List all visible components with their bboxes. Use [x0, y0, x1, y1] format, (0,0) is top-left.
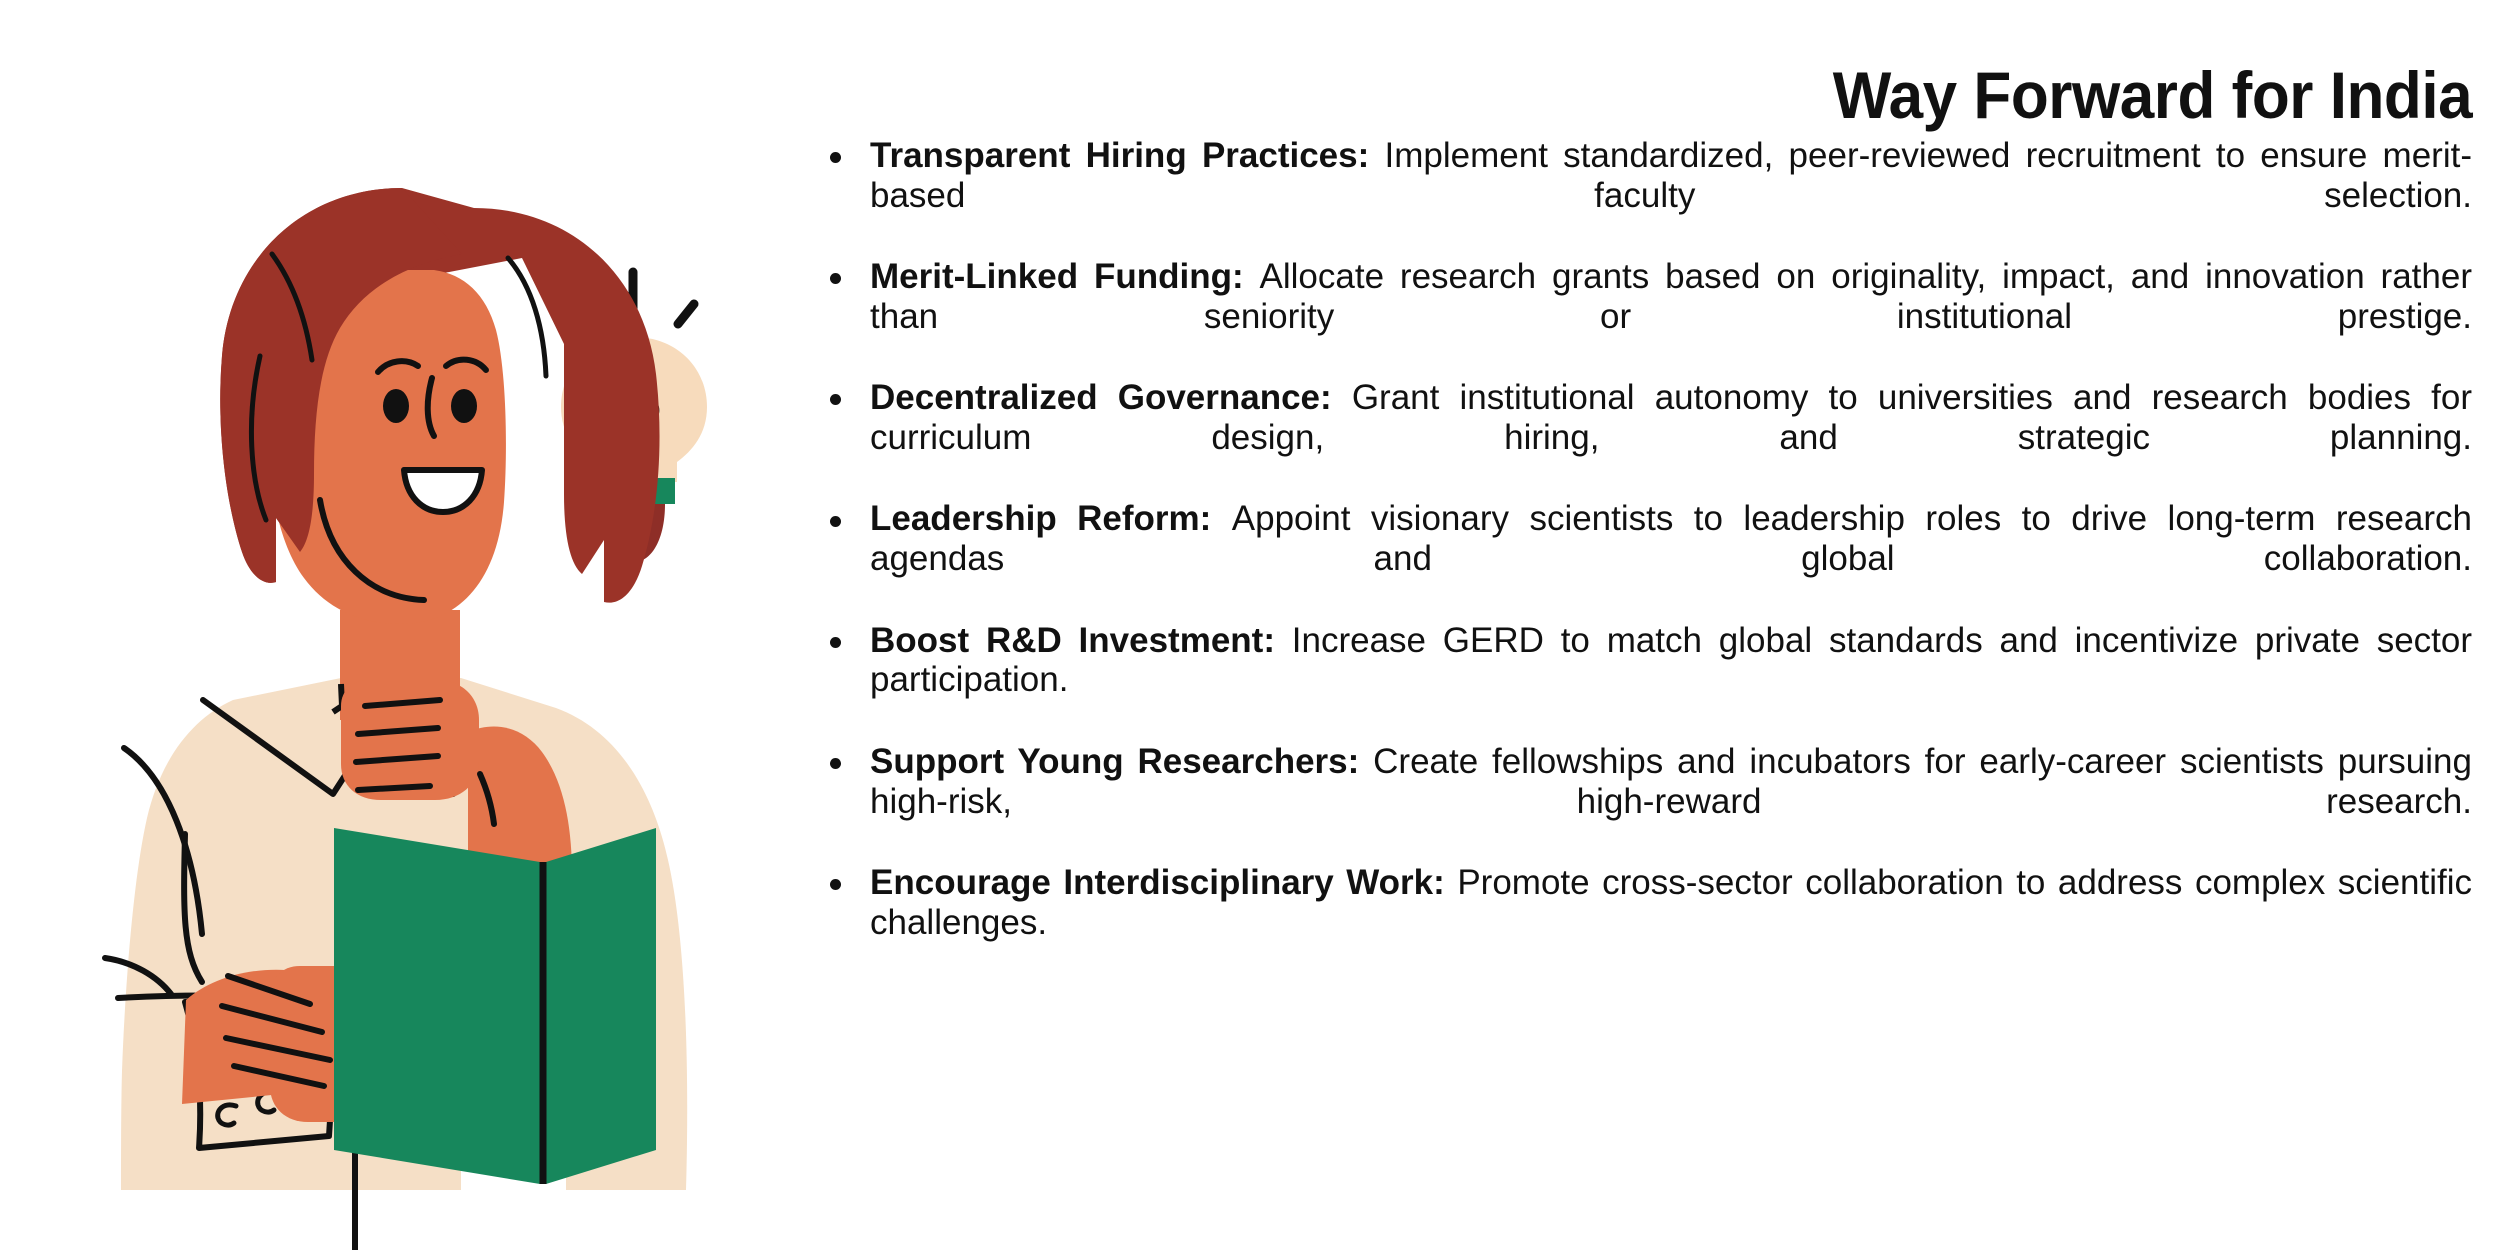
- list-item-term: Support Young Researchers:: [870, 742, 1373, 781]
- list-item: Leadership Reform: Appoint visionary sci…: [800, 499, 2500, 618]
- list-item-term: Decentralized Governance:: [870, 378, 1352, 417]
- eye-left: [383, 389, 409, 423]
- bullet-marker-icon: [830, 637, 841, 648]
- page-title: Way Forward for India: [1833, 60, 2472, 131]
- open-book: [334, 828, 656, 1184]
- list-item: Transparent Hiring Practices: Implement …: [800, 136, 2500, 255]
- book-page-right: [546, 828, 656, 1184]
- eye-right: [451, 389, 477, 423]
- illustration-woman-reading: [0, 0, 800, 1250]
- bullet-marker-icon: [830, 152, 841, 163]
- book-page-left: [334, 828, 540, 1184]
- list-item: Merit-Linked Funding: Allocate research …: [800, 257, 2500, 376]
- list-item-term: Leadership Reform:: [870, 499, 1232, 538]
- bullet-marker-icon: [830, 516, 841, 527]
- list-item: Decentralized Governance: Grant institut…: [800, 378, 2500, 497]
- bullet-marker-icon: [830, 879, 841, 890]
- hand-right: [341, 680, 479, 800]
- list-item: Boost R&D Investment: Increase GERD to m…: [800, 621, 2500, 740]
- list-item: Support Young Researchers: Create fellow…: [800, 742, 2500, 861]
- bullet-marker-icon: [830, 273, 841, 284]
- slide-canvas: Way Forward for India Transparent Hiring…: [0, 0, 2500, 1250]
- list-item-term: Transparent Hiring Practices:: [870, 136, 1385, 175]
- content-column: Way Forward for India Transparent Hiring…: [800, 0, 2500, 1250]
- recommendations-list: Transparent Hiring Practices: Implement …: [800, 136, 2500, 984]
- bullet-marker-icon: [830, 758, 841, 769]
- list-item: Encourage Interdisciplinary Work: Promot…: [800, 863, 2500, 982]
- list-item-term: Boost R&D Investment:: [870, 621, 1292, 660]
- list-item-term: Merit-Linked Funding:: [870, 257, 1260, 296]
- bullet-marker-icon: [830, 394, 841, 405]
- list-item-term: Encourage Interdisciplinary Work:: [870, 863, 1457, 902]
